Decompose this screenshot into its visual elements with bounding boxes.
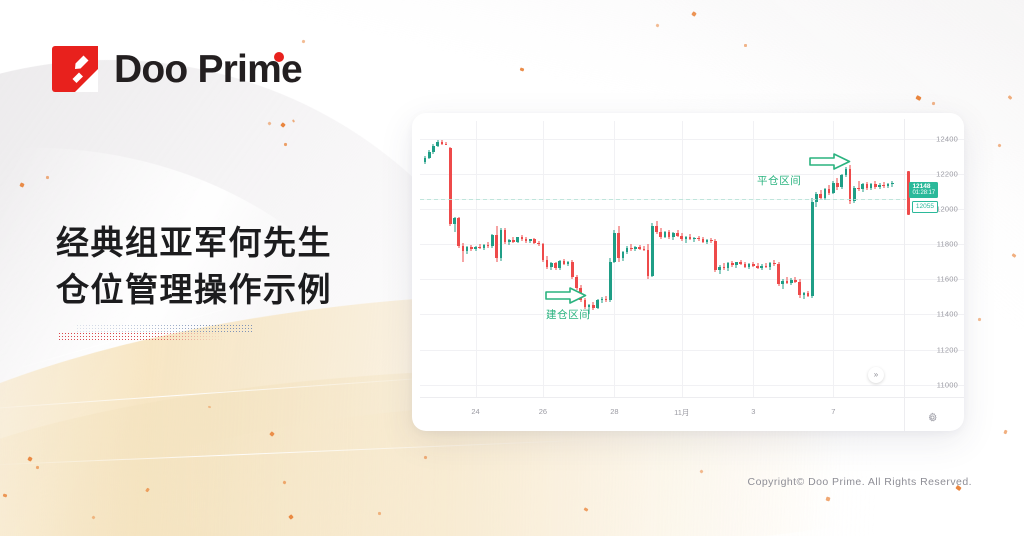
candlestick [521,113,524,431]
page-title: 经典组亚军何先生 仓位管理操作示例 [56,220,332,314]
confetti-particle [36,466,40,470]
candlestick [710,113,713,431]
last-price-value: 12148 [912,183,930,190]
candle-body [529,239,532,241]
candlestick [655,113,658,431]
candle-body [546,260,549,267]
candle-body [790,280,793,283]
candle-body [428,152,431,157]
candlestick [567,113,570,431]
candlestick [718,113,721,431]
candle-body [689,237,692,239]
candle-body [470,247,473,249]
candle-body [558,261,561,269]
confetti-particle [915,95,921,101]
hairline-2 [0,439,600,466]
candle-body [647,250,650,276]
confetti-particle [27,456,32,461]
candlestick [563,113,566,431]
accent-bar-red [58,332,226,341]
candle-body [672,233,675,237]
candle-body [739,262,742,263]
candle-body [424,158,427,163]
candle-body [765,266,768,267]
candlestick [512,113,515,431]
halftone-accent-bar [58,324,254,344]
candlestick [613,113,616,431]
price-axis-tick: 11600 [937,275,958,284]
candlestick [744,113,747,431]
candle-body [718,267,721,270]
candlestick [723,113,726,431]
candle-body [478,247,481,249]
confetti-particle [267,121,271,125]
time-axis-tick: 24 [471,407,479,416]
candle-body [441,142,444,143]
candle-body [436,142,439,146]
candlestick [424,113,427,431]
candle-body [571,262,574,277]
candlestick [550,113,553,431]
candlestick [584,113,587,431]
candle-body [567,262,570,264]
level-price-badge: 12055 [912,201,938,213]
candlestick [478,113,481,431]
confetti-particle [825,496,830,501]
confetti-particle [280,122,286,128]
candle-body [453,218,456,224]
candlestick [525,113,528,431]
candlestick [605,113,608,431]
candle-body [760,266,763,268]
candlestick [748,113,751,431]
candle-body [449,148,452,224]
confetti-particle [520,67,525,71]
candlestick [554,113,557,431]
confetti-particle [932,102,936,106]
right-arrow-icon [545,287,587,304]
candle-body [605,299,608,300]
countdown-value: 01:28:17 [912,190,935,196]
candle-body [752,264,755,265]
candlestick [861,113,864,431]
confetti-particle [1008,95,1013,100]
candlestick [643,113,646,431]
candlestick [697,113,700,431]
candle-body [504,230,507,242]
candlestick [676,113,679,431]
price-axis-tick: 11800 [937,240,958,249]
candlestick [609,113,612,431]
candle-body [794,280,797,282]
confetti-particle [3,493,8,497]
candle-body [495,235,498,258]
candle-body [870,184,873,188]
candle-body [592,305,595,307]
confetti-particle [744,44,747,47]
candle-body [874,184,877,186]
confetti-particle [91,515,95,519]
candle-body [516,237,519,242]
candle-body [857,188,860,189]
candlestick [542,113,545,431]
candlestick [689,113,692,431]
candlestick [866,113,869,431]
candlestick [672,113,675,431]
candlestick [630,113,633,431]
candle-body [521,237,524,239]
candle-body [542,244,545,259]
candle-body [781,281,784,285]
candlestick [449,113,452,431]
price-axis-tick: 11200 [937,345,958,354]
candlestick [529,113,532,431]
confetti-particle [292,119,295,123]
confetti-particle [997,143,1001,147]
confetti-particle [46,176,49,179]
candle-body [680,236,683,239]
doo-prime-logo-icon [52,46,98,92]
confetti-particle [288,514,294,520]
candle-body [866,184,869,188]
candlestick [428,113,431,431]
candlestick [546,113,549,431]
candlestick [588,113,591,431]
candle-body [769,263,772,267]
candle-body [613,233,616,261]
candle-body [685,237,688,239]
candlestick [508,113,511,431]
candle-body [659,232,662,237]
confetti-particle [302,40,306,44]
candle-body [731,263,734,265]
candlestick [857,113,860,431]
candlestick [714,113,717,431]
candlestick [874,113,877,431]
candle-body [798,282,801,296]
candle-body [445,144,448,145]
candle-body [828,189,831,193]
candlestick [638,113,641,431]
price-axis-tick: 11400 [937,310,958,319]
candle-wick [858,181,859,192]
candle-body [457,218,460,246]
confetti-particle [284,143,288,147]
candlestick [495,113,498,431]
candlestick [441,113,444,431]
price-axis-tick: 11000 [937,380,958,389]
candle-body [491,235,494,246]
confetti-particle [584,507,589,512]
candlestick [592,113,595,431]
candlestick [891,113,894,431]
candle-body [664,232,667,237]
candlestick [483,113,486,431]
candlestick [436,113,439,431]
confetti-particle [283,481,287,485]
candlestick [731,113,734,431]
candle-body [634,247,637,249]
candlestick [558,113,561,431]
candlestick [432,113,435,431]
candlestick [735,113,738,431]
candle-body [777,264,780,284]
candle-body [563,261,566,264]
candle-body [693,238,696,239]
candle-body [609,262,612,300]
candlestick [882,113,885,431]
candle-body [525,239,528,241]
price-axis-tick: 12400 [936,134,958,143]
candle-body [550,263,553,267]
candle-body [697,238,700,240]
candlestick [491,113,494,431]
candlestick [664,113,667,431]
candle-body [630,248,633,249]
confetti-particle [208,406,211,409]
candlestick [693,113,696,431]
time-axis-tick: 26 [539,407,547,416]
candle-body [815,194,818,201]
candlestick [445,113,448,431]
candlestick [685,113,688,431]
confetti-particle [378,512,381,515]
candle-body [807,293,810,295]
candle-body [432,146,435,152]
price-axis-separator [904,119,905,431]
candle-body [512,240,515,242]
headline-line-1: 经典组亚军何先生 [56,220,332,267]
candle-body [773,263,776,264]
annotation-open-label: 建仓区间 [546,307,590,322]
candle-body [651,226,654,276]
candlestick [651,113,654,431]
annotation-open-position: 建仓区间 [545,287,590,322]
promo-banner: Doo Prime 经典组亚军何先生 仓位管理操作示例 124001220012… [0,0,1024,536]
candle-body [891,183,894,184]
candlestick [647,113,650,431]
candlestick [659,113,662,431]
confetti-particle [691,11,697,17]
candle-body [508,240,511,242]
annotation-close-label: 平仓区间 [757,173,851,188]
time-axis-tick: 11月 [674,407,689,418]
candle-body [638,247,641,248]
candlestick [702,113,705,431]
last-price-badge: 12148 01:28:17 [909,182,938,198]
candle-body [622,252,625,258]
candlestick [680,113,683,431]
candle-body [601,299,604,300]
candlestick [453,113,456,431]
candle-body [626,248,629,253]
candlestick [853,113,856,431]
chart-card[interactable]: 1240012200120001180011600114001120011000… [412,113,964,431]
candle-body [887,184,890,186]
candlestick [622,113,625,431]
expand-chart-button[interactable]: » [868,367,884,383]
candle-body [811,202,814,296]
candlestick [878,113,881,431]
candlestick [504,113,507,431]
candlestick [617,113,620,431]
candlestick [474,113,477,431]
candle-body [533,239,536,242]
chevron-right-double-icon: » [874,371,878,379]
price-axis-tick: 12200 [936,169,958,178]
confetti-particle [269,431,275,437]
candlestick [462,113,465,431]
candle-body [474,247,477,250]
candlestick [752,113,755,431]
annotation-close-position: 平仓区间 [757,153,851,188]
right-arrow-icon [809,153,851,170]
candle-body [676,233,679,235]
candle-body [727,263,730,269]
candlestick [727,113,730,431]
candle-body [819,194,822,198]
candlestick [470,113,473,431]
level-line [420,199,906,200]
candlestick [533,113,536,431]
candle-body [803,293,806,295]
candlestick [634,113,637,431]
candle-body [668,232,671,237]
hairline-1 [0,374,479,411]
candlestick [575,113,578,431]
candlestick [500,113,503,431]
confetti-particle [978,318,982,322]
time-axis-tick: 7 [831,407,835,416]
copyright-text: Copyright© Doo Prime. All Rights Reserve… [748,476,972,488]
candle-body [748,264,751,266]
candlestick [457,113,460,431]
chart-settings-button[interactable] [926,411,938,423]
candle-body [882,185,885,186]
candle-body [861,184,864,189]
confetti-particle [655,23,659,27]
candlestick [516,113,519,431]
candle-body [483,245,486,248]
candle-body [723,267,726,269]
time-axis-tick: 3 [751,407,755,416]
candle-body [744,264,747,267]
candlestick [601,113,604,431]
candle-body [706,240,709,242]
candlestick [739,113,742,431]
gear-icon [927,412,938,423]
confetti-particle [699,469,703,473]
candlestick [466,113,469,431]
candlestick [706,113,709,431]
candlestick [596,113,599,431]
candle-body [655,226,658,232]
candlestick [626,113,629,431]
candle-body [756,266,759,268]
candle-body [554,263,557,268]
candlestick [571,113,574,431]
candle-body [596,300,599,308]
candle-body [735,262,738,265]
candlestick [887,113,890,431]
price-axis-tick: 12000 [936,204,958,213]
candle-body [702,239,705,241]
candle-body [537,243,540,245]
confetti-particle [19,182,24,187]
candle-body [462,246,465,251]
chart-canvas[interactable]: 1240012200120001180011600114001120011000… [412,113,964,431]
candle-body [714,241,717,269]
confetti-particle [145,488,150,493]
headline-line-2: 仓位管理操作示例 [56,267,332,314]
confetti-particle [1003,430,1007,435]
candle-body [710,240,713,241]
candle-body [500,230,503,258]
candle-body [878,185,881,187]
candle-body [824,189,827,198]
confetti-particle [424,456,428,460]
time-axis-tick: 28 [610,407,618,416]
candlestick [537,113,540,431]
brand-accent-dot [274,52,284,62]
candlestick [487,113,490,431]
confetti-particle [1012,253,1017,258]
candlestick [870,113,873,431]
candlestick [579,113,582,431]
candle-body [643,249,646,250]
candlestick [668,113,671,431]
candle-body [617,233,620,258]
brand-lockup: Doo Prime [52,46,302,92]
candle-body [487,245,490,246]
candle-body [466,247,469,251]
candle-body [786,281,789,283]
